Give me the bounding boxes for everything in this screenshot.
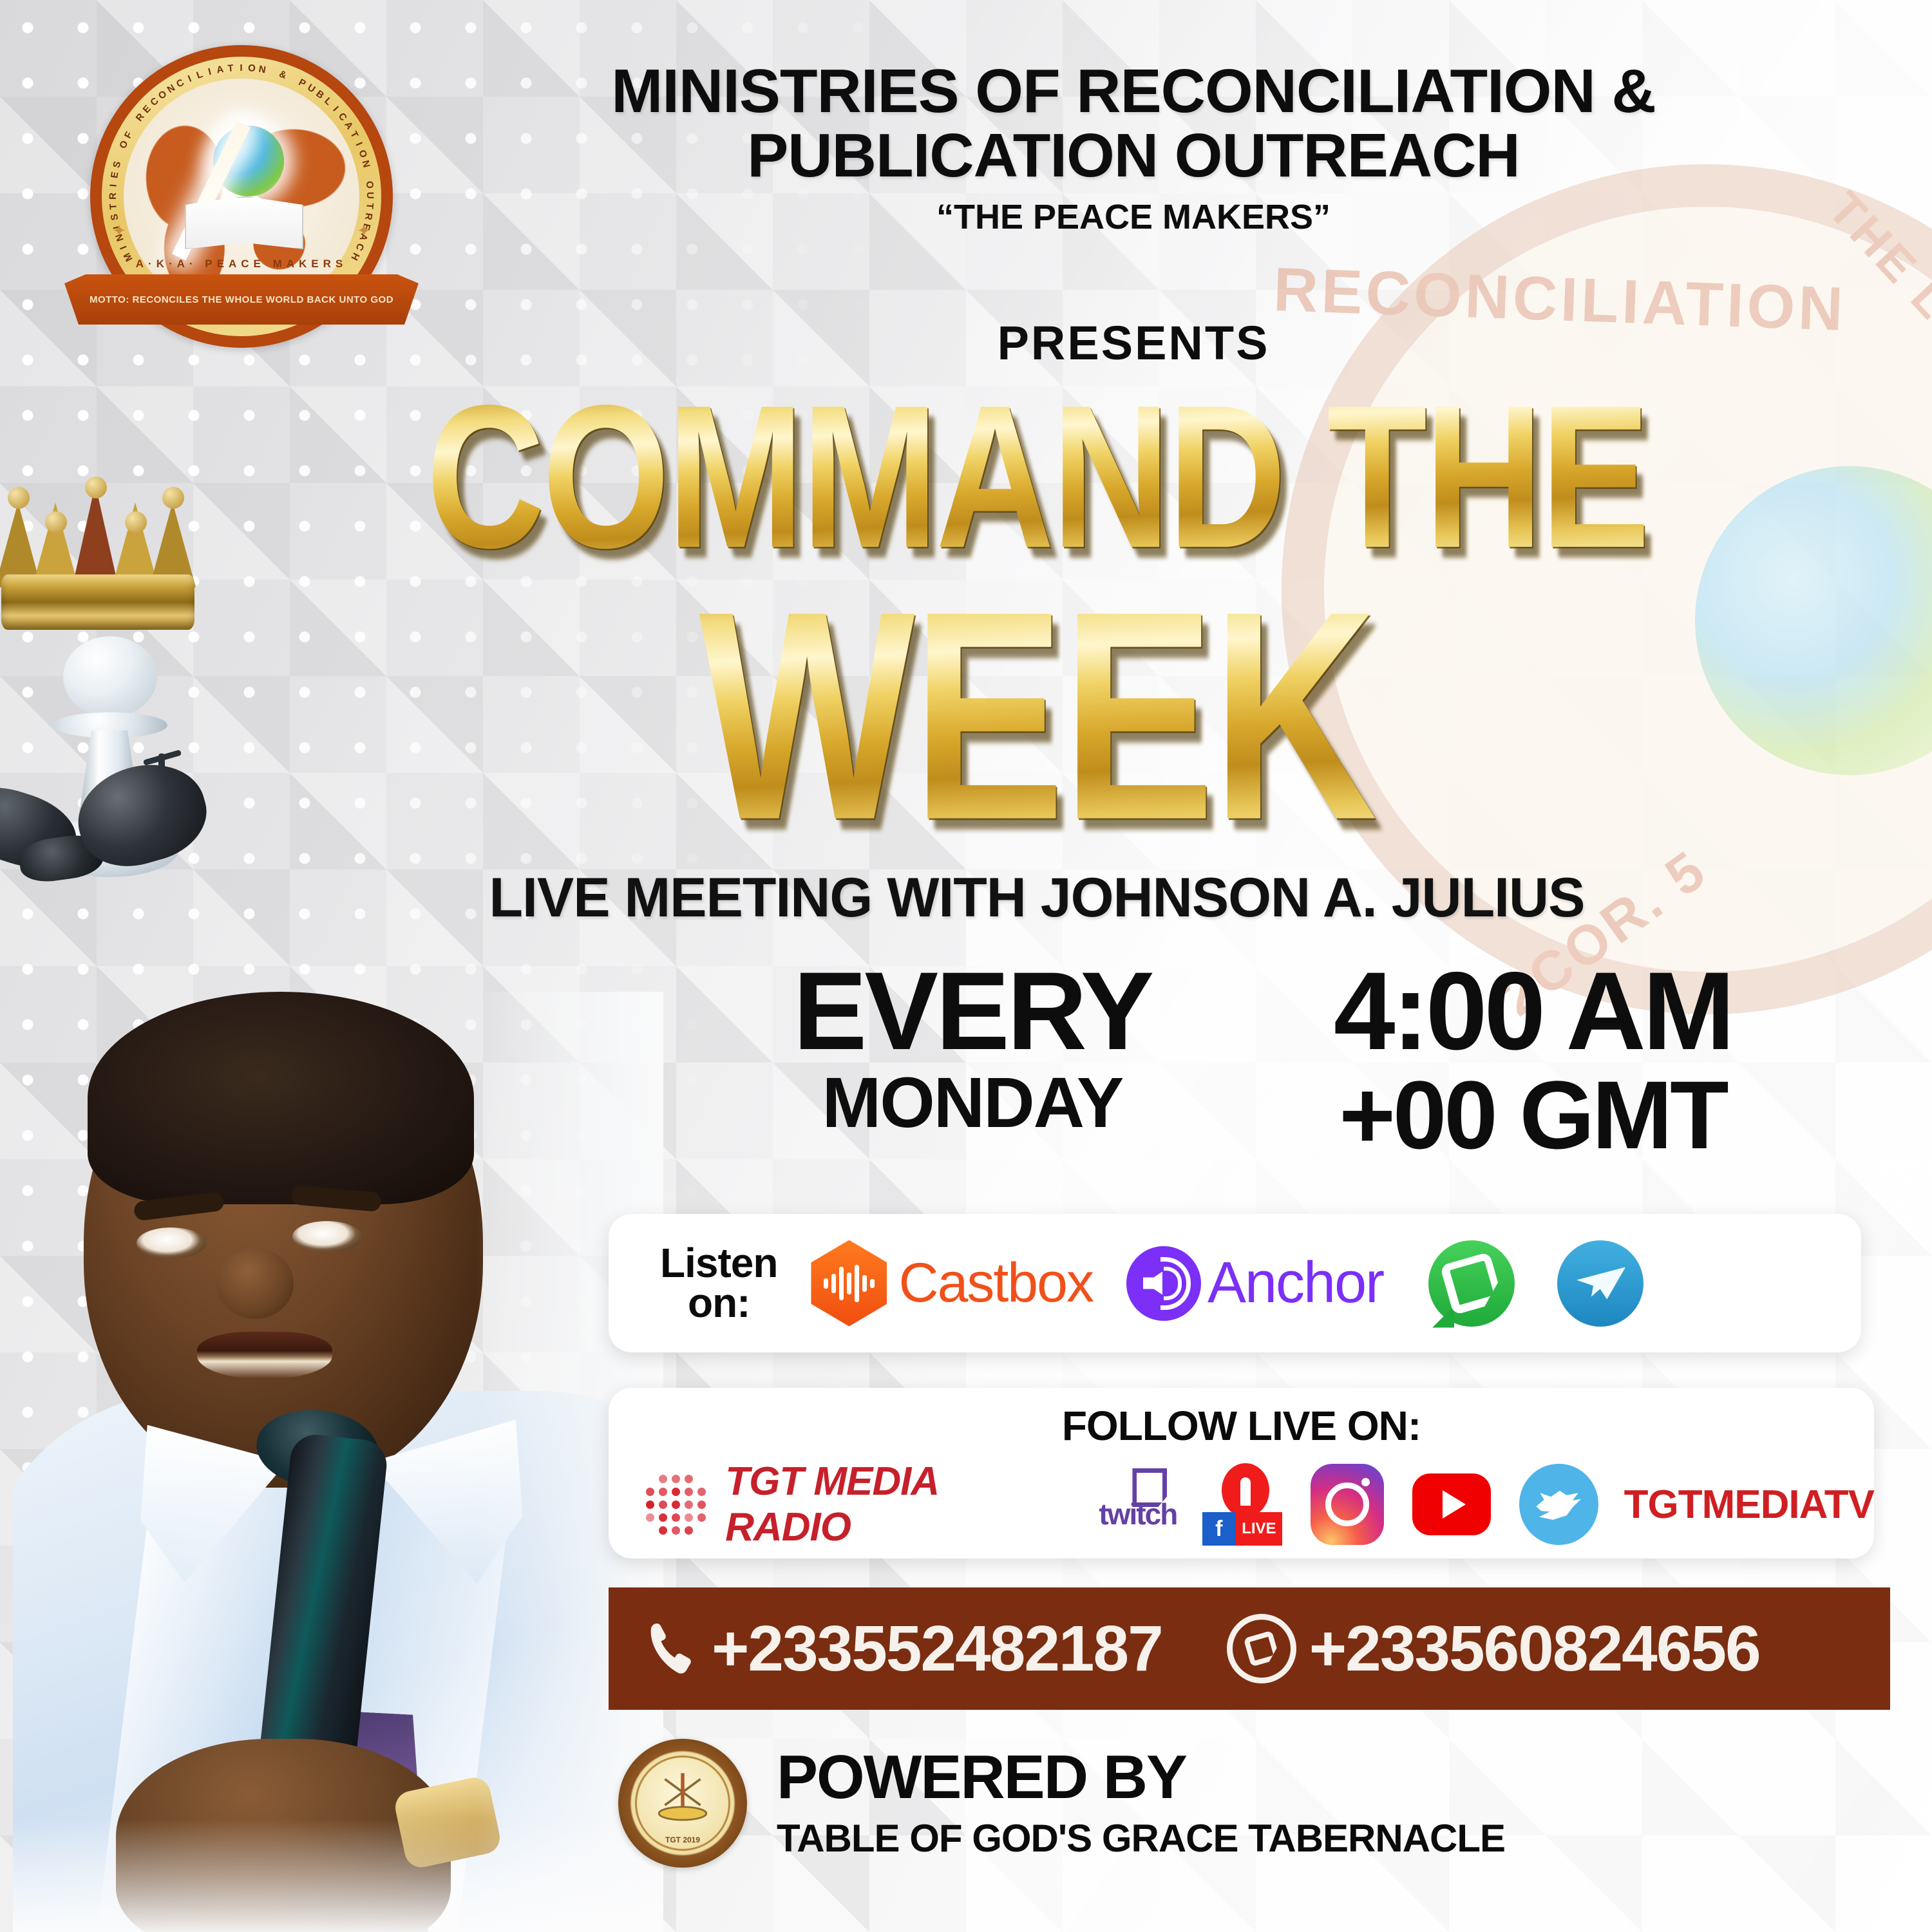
facebook-label: f xyxy=(1202,1512,1236,1546)
flyer-poster: RECONCILIATION THE LIGHT SHINES IN D JOH… xyxy=(0,0,1932,1932)
powered-by-label: POWERED BY xyxy=(777,1747,1505,1808)
event-title: COMMAND THE WEEK xyxy=(193,380,1880,793)
telegram-icon[interactable] xyxy=(1557,1240,1643,1327)
whatsapp-icon[interactable] xyxy=(1428,1240,1515,1327)
frequency-day: MONDAY xyxy=(747,1068,1198,1139)
listen-on-card: Listen on: Castbox Anchor xyxy=(609,1214,1861,1352)
live-meeting-line: LIVE MEETING WITH JOHNSON A. JULIUS xyxy=(361,866,1713,930)
twitter-icon[interactable] xyxy=(1519,1464,1598,1545)
header-block: MINISTRIES OF RECONCILIATION & PUBLICATI… xyxy=(438,59,1829,237)
facebook-live-label: LIVE xyxy=(1236,1512,1282,1546)
listen-on-label: Listen on: xyxy=(660,1244,777,1323)
follow-live-card: FOLLOW LIVE ON: TGT MEDIA RADIO twitch f… xyxy=(609,1388,1874,1558)
tgtmediatv-label[interactable]: TGTMEDIATV xyxy=(1624,1482,1874,1528)
time-zone: +00 GMT xyxy=(1262,1066,1803,1163)
chess-crown-graphic xyxy=(0,489,258,960)
badge-aka-text: A·K·A· PEACE MAKERS xyxy=(90,258,393,270)
youtube-icon[interactable] xyxy=(1412,1473,1491,1535)
crown-icon xyxy=(0,489,205,638)
ministry-logo-badge: MINISTRIES OF RECONCILIATION & PUBLICATI… xyxy=(90,45,393,348)
header-line-1: MINISTRIES OF RECONCILIATION & xyxy=(438,59,1829,124)
phone-number[interactable]: +233552482187 xyxy=(712,1612,1162,1686)
organization-name: TABLE OF GOD'S GRACE TABERNACLE xyxy=(777,1816,1505,1861)
castbox-icon[interactable] xyxy=(811,1240,887,1327)
contact-bar: +233552482187 +233560824656 xyxy=(609,1587,1890,1710)
presents-label: PRESENTS xyxy=(438,316,1829,370)
listen-label-line1: Listen xyxy=(660,1244,777,1283)
header-line-2: PUBLICATION OUTREACH xyxy=(438,124,1829,188)
whatsapp-number[interactable]: +233560824656 xyxy=(1309,1612,1760,1686)
footer-block: TGT 2019 POWERED BY TABLE OF GOD'S GRACE… xyxy=(618,1739,1713,1868)
whatsapp-contact-icon xyxy=(1227,1614,1296,1683)
header-tagline: “THE PEACE MAKERS” xyxy=(438,197,1829,237)
instagram-icon[interactable] xyxy=(1311,1464,1384,1545)
badge-motto-text: MOTTO: RECONCILES THE WHOLE WORLD BACK U… xyxy=(90,294,393,305)
phone-icon xyxy=(649,1619,699,1678)
meeting-time: 4:00 AM +00 GMT xyxy=(1262,960,1803,1163)
facebook-live-icon[interactable]: f LIVE xyxy=(1202,1463,1282,1546)
twitch-icon[interactable]: twitch xyxy=(1099,1471,1173,1538)
badge-motto-ribbon: MOTTO: RECONCILES THE WHOLE WORLD BACK U… xyxy=(64,274,419,325)
anchor-icon[interactable] xyxy=(1126,1246,1201,1321)
event-title-line-2: WEEK xyxy=(193,574,1880,859)
speaker-photo xyxy=(13,992,663,1932)
event-title-line-1: COMMAND THE xyxy=(193,380,1880,576)
tgt-media-radio-icon[interactable] xyxy=(646,1475,703,1534)
frequency-every: EVERY xyxy=(747,960,1198,1064)
meeting-frequency: EVERY MONDAY xyxy=(747,960,1198,1139)
anchor-label[interactable]: Anchor xyxy=(1207,1250,1383,1316)
follow-live-title: FOLLOW LIVE ON: xyxy=(609,1388,1874,1450)
listen-label-line2: on: xyxy=(660,1283,777,1323)
time-clock: 4:00 AM xyxy=(1262,960,1803,1064)
seal-text: TGT 2019 xyxy=(618,1835,747,1844)
twitch-label: twitch xyxy=(1099,1497,1177,1531)
tgt-media-radio-label[interactable]: TGT MEDIA RADIO xyxy=(725,1459,1063,1550)
tabernacle-seal-icon: TGT 2019 xyxy=(618,1739,747,1868)
castbox-label[interactable]: Castbox xyxy=(898,1251,1093,1315)
